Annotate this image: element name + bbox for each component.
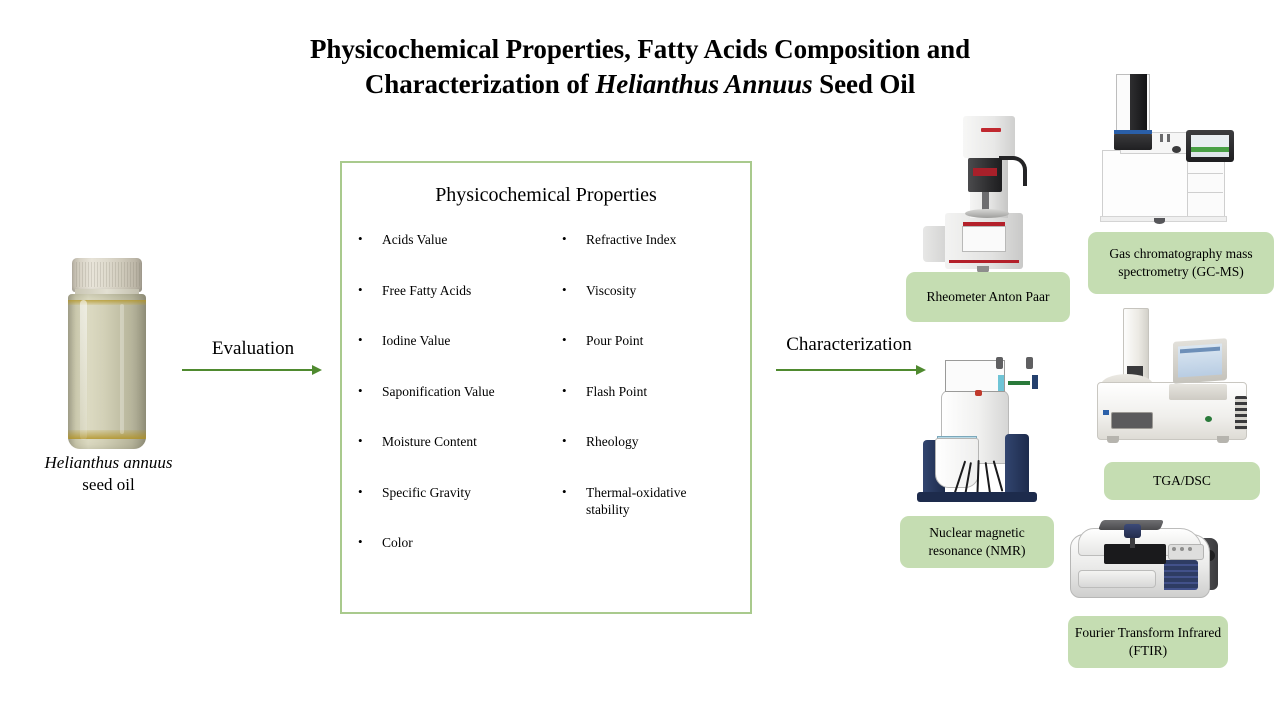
tga-sample-tray (1169, 384, 1227, 400)
evaluation-arrow-line (182, 369, 314, 371)
rheometer-front-panel (962, 226, 1006, 252)
bullet-icon: • (562, 484, 586, 501)
nmr-green-valve (1008, 381, 1030, 385)
properties-columns: • Acids Value • Free Fatty Acids • Iodin… (342, 231, 750, 585)
gcms-injector-port-1 (1160, 134, 1163, 142)
nmr-navy-fitting (1032, 375, 1038, 389)
title-line-2-suffix: Seed Oil (813, 69, 916, 99)
properties-left-column: • Acids Value • Free Fatty Acids • Iodin… (342, 231, 546, 585)
property-label: Free Fatty Acids (382, 282, 522, 300)
title-line-2-prefix: Characterization of (365, 69, 595, 99)
bullet-icon: • (358, 231, 382, 248)
gcms-injector-port-2 (1167, 134, 1170, 142)
tga-dsc-label: TGA/DSC (1104, 462, 1260, 500)
nmr-red-indicator (975, 390, 982, 396)
list-item: • Pour Point (546, 332, 750, 350)
nmr-cyan-indicator (998, 375, 1004, 391)
nmr-fill-port-left (996, 357, 1003, 369)
gcms-cabinet-seam-bottom (1187, 192, 1223, 193)
property-label: Saponification Value (382, 383, 522, 401)
property-label: Pour Point (586, 332, 726, 350)
list-item: • Refractive Index (546, 231, 750, 249)
gcms-autosampler-base (1114, 134, 1152, 150)
property-label: Thermal-oxidative stability (586, 484, 726, 519)
gcms-main-body (1102, 150, 1190, 220)
bullet-icon: • (358, 534, 382, 551)
list-item: • Thermal-oxidative stability (546, 484, 750, 519)
list-item: • Flash Point (546, 383, 750, 401)
evaluation-arrow-head-icon (312, 365, 322, 375)
nmr-label: Nuclear magnetic resonance (NMR) (900, 516, 1054, 568)
gcms-side-cabinet (1187, 152, 1225, 220)
sample-type-label: seed oil (82, 475, 134, 494)
ftir-sample-compartment (1104, 544, 1166, 564)
bottle-cap (72, 258, 142, 292)
property-label: Moisture Content (382, 433, 522, 451)
list-item: • Color (342, 534, 546, 552)
rheometer-measuring-plate (965, 209, 1009, 218)
tga-side-vents (1235, 396, 1247, 430)
gcms-cabinet-seam-top (1187, 173, 1223, 174)
tga-foot-right (1217, 436, 1229, 443)
bullet-icon: • (358, 282, 382, 299)
tga-foot-left (1107, 436, 1119, 443)
ftir-front-drawer (1078, 570, 1156, 588)
title-species-name: Helianthus Annuus (595, 69, 812, 99)
ftir-atr-pressure-knob (1124, 524, 1141, 538)
nmr-fill-port-right (1026, 357, 1033, 369)
gcms-instrument-image (1090, 58, 1242, 230)
gcms-foot (1154, 218, 1165, 224)
list-item: • Viscosity (546, 282, 750, 300)
bullet-icon: • (358, 484, 382, 501)
characterization-arrow-line (776, 369, 918, 371)
gcms-display-screen (1191, 135, 1229, 157)
bottle-highlight-left (80, 300, 87, 440)
nmr-cable (976, 460, 979, 496)
nmr-cable (985, 462, 992, 496)
property-label: Refractive Index (586, 231, 726, 249)
title-line-1: Physicochemical Properties, Fatty Acids … (310, 34, 970, 64)
property-label: Rheology (586, 433, 726, 451)
sample-caption: Helianthus annuus seed oil (6, 452, 211, 496)
property-label: Color (382, 534, 522, 552)
ftir-panel-button (1180, 547, 1184, 551)
rheometer-brand-logo (981, 128, 1001, 132)
tga-secondary-logo (1205, 416, 1212, 422)
nmr-top-module (945, 360, 1005, 392)
nmr-instrument-image (905, 352, 1051, 514)
physicochemical-properties-box: Physicochemical Properties • Acids Value… (340, 161, 752, 614)
rheometer-motor-stripe (973, 168, 997, 176)
list-item: • Rheology (546, 433, 750, 451)
tga-front-window (1111, 412, 1153, 429)
sample-species-name: Helianthus annuus (45, 453, 173, 472)
tga-dsc-instrument-image (1085, 304, 1261, 456)
tga-brand-logo (1103, 410, 1109, 415)
rheometer-instrument-image (915, 108, 1065, 270)
nmr-cable (964, 462, 972, 496)
rheometer-red-stripe (949, 260, 1019, 263)
bullet-icon: • (562, 383, 586, 400)
ftir-label: Fourier Transform Infrared (FTIR) (1068, 616, 1228, 668)
list-item: • Iodine Value (342, 332, 546, 350)
ftir-side-ribs (1164, 560, 1198, 590)
list-item: • Free Fatty Acids (342, 282, 546, 300)
properties-box-heading: Physicochemical Properties (342, 184, 750, 207)
gcms-label: Gas chromatography mass spectrometry (GC… (1088, 232, 1274, 294)
rheometer-cable (999, 156, 1027, 186)
properties-right-column: • Refractive Index • Viscosity • Pour Po… (546, 231, 750, 585)
property-label: Specific Gravity (382, 484, 522, 502)
bottle-body (68, 294, 146, 449)
list-item: • Saponification Value (342, 383, 546, 401)
bullet-icon: • (562, 433, 586, 450)
ftir-panel-button (1188, 547, 1192, 551)
bottle-highlight-right (120, 304, 124, 434)
list-item: • Moisture Content (342, 433, 546, 451)
rheometer-label: Rheometer Anton Paar (906, 272, 1070, 322)
gcms-knob (1172, 146, 1181, 153)
bullet-icon: • (358, 332, 382, 349)
property-label: Acids Value (382, 231, 522, 249)
evaluation-arrow-label: Evaluation (182, 338, 324, 360)
bullet-icon: • (562, 282, 586, 299)
list-item: • Acids Value (342, 231, 546, 249)
rheometer-head (963, 116, 1015, 158)
property-label: Viscosity (586, 282, 726, 300)
property-label: Flash Point (586, 383, 726, 401)
property-label: Iodine Value (382, 332, 522, 350)
bullet-icon: • (358, 383, 382, 400)
bullet-icon: • (562, 231, 586, 248)
list-item: • Specific Gravity (342, 484, 546, 502)
seed-oil-bottle-image (62, 258, 154, 454)
ftir-instrument-image (1064, 508, 1232, 616)
bullet-icon: • (562, 332, 586, 349)
page-title: Physicochemical Properties, Fatty Acids … (200, 32, 1080, 101)
nmr-cable (993, 460, 1004, 491)
nmr-base-frame (917, 492, 1037, 502)
bullet-icon: • (358, 433, 382, 450)
ftir-panel-button (1172, 547, 1176, 551)
